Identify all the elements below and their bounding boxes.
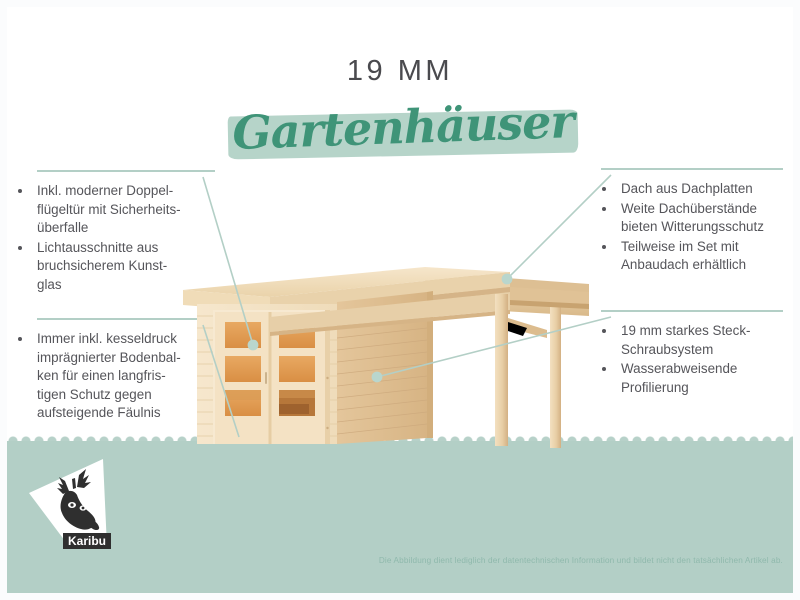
karibu-logo[interactable]: Karibu (25, 455, 123, 555)
callout-list: Immer inkl. kesseldruck imprägnierter Bo… (15, 330, 181, 424)
list-item: Immer inkl. kesseldruck imprägnierter Bo… (15, 330, 181, 423)
callout-list: Inkl. moderner Doppel- flügeltür mit Sic… (15, 182, 181, 295)
list-item: Weite Dachüberstände bieten Witterungssc… (599, 200, 791, 237)
ground-band (7, 441, 793, 593)
list-item: Teilweise im Set mit Anbaudach erhältlic… (599, 238, 791, 275)
callout-rule (601, 310, 783, 312)
garden-house-illustration (175, 232, 595, 452)
disclaimer-text: Die Abbildung dient lediglich der datent… (379, 556, 783, 565)
callout-list: 19 mm starkes Steck- Schraubsystem Wasse… (599, 322, 791, 398)
infographic-stage: 19 MM Gartenhäuser (0, 0, 800, 600)
infographic-canvas: 19 MM Gartenhäuser (7, 7, 793, 593)
callout-rule (601, 168, 783, 170)
page-kicker: 19 MM (7, 55, 793, 88)
canopy-posts (495, 294, 561, 448)
list-item: Inkl. moderner Doppel- flügeltür mit Sic… (15, 182, 181, 238)
list-item: Lichtausschnitte aus bruchsicherem Kunst… (15, 239, 181, 295)
callout-rule (37, 170, 215, 172)
callout-list: Dach aus Dachplatten Weite Dachüberständ… (599, 180, 791, 276)
page-title: Gartenhäuser (228, 103, 578, 165)
callout-roof: Dach aus Dachplatten Weite Dachüberständ… (599, 168, 791, 288)
logo-wordmark: Karibu (68, 534, 106, 548)
callout-system: 19 mm starkes Steck- Schraubsystem Wasse… (599, 310, 791, 410)
list-item: Wasserabweisende Profilierung (599, 360, 791, 397)
list-item: Dach aus Dachplatten (599, 180, 791, 199)
list-item: 19 mm starkes Steck- Schraubsystem (599, 322, 791, 359)
